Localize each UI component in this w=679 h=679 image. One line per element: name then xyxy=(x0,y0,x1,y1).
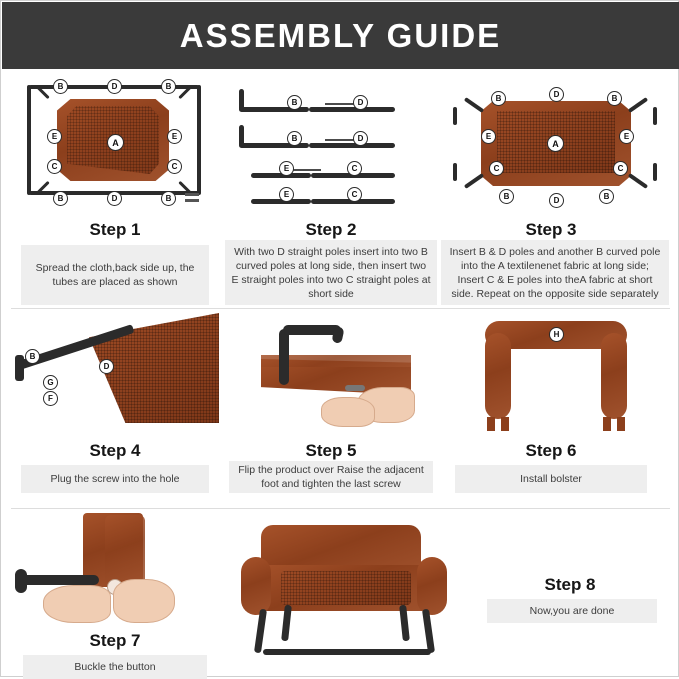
step-2-panel: B D B D E C E C Step 2 Wit xyxy=(225,73,437,303)
step-3-illustration: B D B E A E C C B D B xyxy=(441,73,671,213)
step-6-panel: H Step 6 Install bolster xyxy=(441,313,671,503)
step-4-caption: Plug the screw into the hole xyxy=(21,465,209,493)
tag-e: E xyxy=(47,129,62,144)
tag-a: A xyxy=(547,135,564,152)
step-7-caption: Buckle the button xyxy=(23,655,207,679)
step-2-label: Step 2 xyxy=(225,220,437,240)
tag-b: B xyxy=(287,95,302,110)
tag-f: F xyxy=(43,391,58,406)
step-3-panel: B D B E A E C C B D B Step 3 Insert B & … xyxy=(441,73,671,303)
page-title: ASSEMBLY GUIDE xyxy=(180,17,501,55)
tag-c: C xyxy=(347,161,362,176)
step-4-panel: B D G F Step 4 Plug the screw into the h… xyxy=(9,313,221,503)
tag-b: B xyxy=(491,91,506,106)
step-7-panel: Step 7 Buckle the button xyxy=(9,513,221,673)
step-5-panel: Step 5 Flip the product over Raise the a… xyxy=(225,313,437,503)
tag-b: B xyxy=(499,189,514,204)
tag-g: G xyxy=(43,375,58,390)
tag-d: D xyxy=(107,79,122,94)
tag-b: B xyxy=(599,189,614,204)
tag-d: D xyxy=(549,87,564,102)
tag-b: B xyxy=(607,91,622,106)
assembly-guide-page: ASSEMBLY GUIDE B D B E E A xyxy=(0,0,679,677)
tag-e: E xyxy=(279,187,294,202)
step-6-caption: Install bolster xyxy=(455,465,647,493)
step-8-label: Step 8 xyxy=(475,575,665,595)
tag-e: E xyxy=(619,129,634,144)
step-3-caption: Insert B & D poles and another B curved … xyxy=(441,240,669,305)
tag-e: E xyxy=(481,129,496,144)
tag-d: D xyxy=(353,131,368,146)
step-1-illustration: B D B E E A C C B D B xyxy=(9,73,221,213)
tag-a: A xyxy=(107,134,124,151)
step-8-caption: Now,you are done xyxy=(487,599,657,623)
tag-c: C xyxy=(47,159,62,174)
tag-b: B xyxy=(25,349,40,364)
tag-c: C xyxy=(347,187,362,202)
tag-b: B xyxy=(161,191,176,206)
step-1-label: Step 1 xyxy=(9,220,221,240)
tag-c: C xyxy=(167,159,182,174)
step-6-label: Step 6 xyxy=(441,441,661,461)
step-4-label: Step 4 xyxy=(9,441,221,461)
tag-b: B xyxy=(287,131,302,146)
step-3-label: Step 3 xyxy=(441,220,661,240)
step-7-label: Step 7 xyxy=(9,631,221,651)
tag-d: D xyxy=(99,359,114,374)
tag-d: D xyxy=(353,95,368,110)
step-5-label: Step 5 xyxy=(225,441,437,461)
tag-e: E xyxy=(167,129,182,144)
tag-b: B xyxy=(53,79,68,94)
step-5-illustration xyxy=(225,313,437,431)
step-2-illustration: B D B D E C E C xyxy=(225,73,437,213)
tag-d: D xyxy=(549,193,564,208)
tag-e: E xyxy=(279,161,294,176)
tag-d: D xyxy=(107,191,122,206)
step-7-illustration xyxy=(9,513,221,623)
page-header: ASSEMBLY GUIDE xyxy=(2,2,679,69)
tag-b: B xyxy=(53,191,68,206)
step-4-illustration: B D G F xyxy=(9,313,221,431)
step-8-illustration xyxy=(225,507,475,673)
tag-b: B xyxy=(161,79,176,94)
step-6-illustration: H xyxy=(441,313,671,431)
step-1-caption: Spread the cloth,back side up, the tubes… xyxy=(21,245,209,305)
step-5-caption: Flip the product over Raise the adjacent… xyxy=(229,461,433,493)
step-1-panel: B D B E E A C C B D B Step 1 Spread the … xyxy=(9,73,221,303)
tag-c: C xyxy=(613,161,628,176)
step-8-panel: Step 8 Now,you are done xyxy=(225,513,671,673)
step-2-caption: With two D straight poles insert into tw… xyxy=(225,240,437,305)
tag-h: H xyxy=(549,327,564,342)
row-divider-1 xyxy=(11,308,670,309)
tag-c: C xyxy=(489,161,504,176)
